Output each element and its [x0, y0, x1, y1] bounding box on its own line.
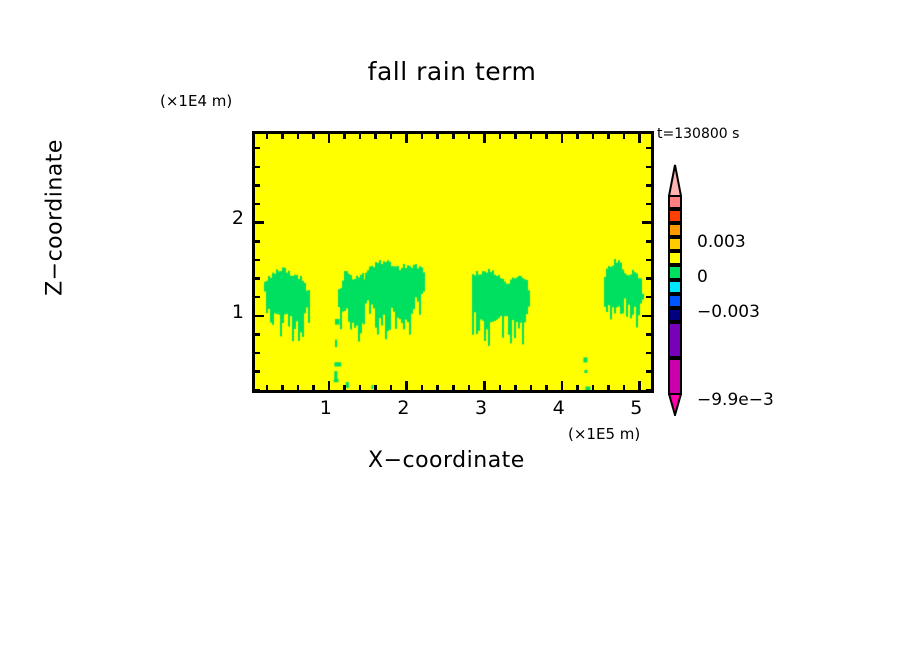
tick-mark [530, 385, 533, 390]
tick-mark [255, 277, 260, 280]
tick-mark [452, 385, 455, 390]
x-tick-label: 3 [466, 397, 496, 419]
tick-mark [390, 385, 393, 390]
tick-mark [646, 333, 651, 336]
tick-mark [421, 385, 424, 390]
tick-mark [576, 385, 579, 390]
tick-mark [328, 134, 331, 143]
tick-mark [499, 385, 502, 390]
tick-mark [266, 385, 269, 390]
colorbar-segment[interactable] [668, 251, 682, 265]
tick-mark [255, 389, 260, 392]
y-axis-label: Z−coordinate [43, 103, 68, 333]
tick-mark [561, 134, 564, 143]
tick-mark [452, 134, 455, 139]
tick-mark [405, 134, 408, 143]
page-title: fall rain term [0, 57, 904, 86]
tick-mark [592, 385, 595, 390]
colorbar-tick-label: −9.9e−3 [697, 390, 774, 410]
tick-mark [514, 385, 517, 390]
colorbar-segment[interactable] [668, 195, 682, 209]
tick-mark [343, 385, 346, 390]
colorbar-segment[interactable] [668, 265, 682, 279]
tick-mark [623, 385, 626, 390]
tick-mark [255, 240, 260, 243]
tick-mark [374, 385, 377, 390]
tick-mark [638, 134, 641, 143]
colorbar-segment[interactable] [668, 308, 682, 322]
colorbar-tick-label: 0 [697, 267, 708, 287]
tick-mark [623, 134, 626, 139]
tick-mark [530, 134, 533, 139]
tick-mark [646, 184, 651, 187]
x-tick-label: 4 [544, 397, 574, 419]
tick-mark [607, 385, 610, 390]
tick-mark [266, 134, 269, 139]
tick-mark [592, 134, 595, 139]
tick-mark [297, 134, 300, 139]
tick-mark [390, 134, 393, 139]
tick-mark [436, 385, 439, 390]
x-tick-label: 1 [311, 397, 341, 419]
tick-mark [328, 381, 331, 390]
colorbar-segment[interactable] [668, 294, 682, 308]
tick-mark [576, 134, 579, 139]
timestamp-annotation: t=130800 s [657, 126, 739, 142]
tick-mark [281, 134, 284, 139]
tick-mark [255, 147, 260, 150]
tick-mark [642, 315, 651, 318]
tick-mark [255, 315, 264, 318]
tick-mark [255, 221, 264, 224]
tick-mark [468, 134, 471, 139]
tick-mark [255, 370, 260, 373]
tick-mark [646, 166, 651, 169]
plot-area[interactable] [252, 131, 654, 393]
tick-mark [374, 134, 377, 139]
colorbar-segment[interactable] [668, 223, 682, 237]
tick-mark [297, 385, 300, 390]
tick-mark [646, 296, 651, 299]
tick-mark [646, 259, 651, 262]
tick-mark [255, 184, 260, 187]
tick-mark [646, 389, 651, 392]
tick-mark [255, 333, 260, 336]
tick-mark [646, 370, 651, 373]
x-axis-unit-label: (×1E5 m) [568, 425, 640, 443]
tick-mark [255, 259, 260, 262]
y-tick-label: 2 [214, 207, 244, 229]
tick-mark [343, 134, 346, 139]
y-tick-label: 1 [214, 301, 244, 323]
tick-mark [255, 352, 260, 355]
tick-mark [646, 277, 651, 280]
tick-mark [646, 352, 651, 355]
colorbar[interactable] [663, 163, 687, 405]
tick-mark [468, 385, 471, 390]
tick-mark [646, 203, 651, 206]
colorbar-segment[interactable] [668, 358, 682, 395]
tick-mark [561, 381, 564, 390]
tick-mark [255, 166, 260, 169]
tick-mark [545, 134, 548, 139]
colorbar-segment[interactable] [668, 322, 682, 359]
tick-mark [312, 385, 315, 390]
x-axis-label: X−coordinate [368, 448, 525, 473]
tick-mark [483, 134, 486, 143]
colorbar-segment[interactable] [668, 209, 682, 223]
tick-mark [255, 296, 260, 299]
x-tick-label: 5 [621, 397, 651, 419]
tick-mark [642, 221, 651, 224]
tick-mark [514, 134, 517, 139]
y-axis-unit-label: (×1E4 m) [160, 92, 232, 110]
colorbar-tick-label: 0.003 [697, 232, 746, 252]
tick-mark [255, 203, 260, 206]
tick-mark [483, 381, 486, 390]
tick-mark [436, 134, 439, 139]
tick-mark [312, 134, 315, 139]
colorbar-segment[interactable] [668, 237, 682, 251]
tick-mark [359, 385, 362, 390]
colorbar-top-arrow-icon [668, 164, 682, 196]
tick-mark [646, 240, 651, 243]
colorbar-tick-label: −0.003 [697, 302, 760, 322]
contour-field-canvas [255, 134, 651, 390]
tick-mark [545, 385, 548, 390]
colorbar-bottom-arrow-icon [668, 394, 682, 416]
tick-mark [607, 134, 610, 139]
tick-mark [499, 134, 502, 139]
x-tick-label: 2 [388, 397, 418, 419]
tick-mark [646, 147, 651, 150]
tick-mark [281, 385, 284, 390]
tick-mark [359, 134, 362, 139]
colorbar-segment[interactable] [668, 280, 682, 294]
tick-mark [421, 134, 424, 139]
tick-mark [638, 381, 641, 390]
tick-mark [405, 381, 408, 390]
